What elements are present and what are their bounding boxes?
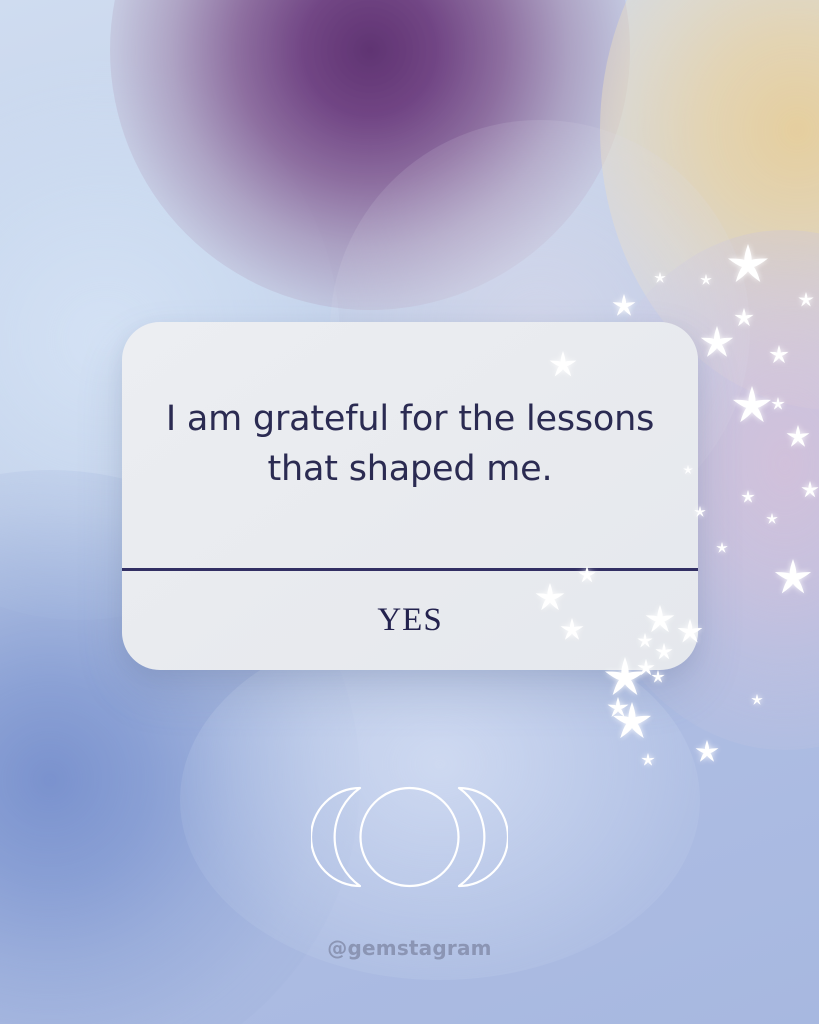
answer-area: YES [122,571,698,670]
purple-blob [110,0,630,310]
sparkle-star-icon [766,513,778,525]
affirmation-card: I am grateful for the lessons that shape… [122,322,698,670]
sparkle-star-icon [700,274,712,286]
sparkle-star-icon [798,292,814,308]
sparkle-star-icon [700,326,734,360]
answer-label: YES [377,602,442,639]
sparkle-star-icon [727,244,769,286]
affirmation-text: I am grateful for the lessons that shape… [166,395,654,494]
quote-area: I am grateful for the lessons that shape… [122,322,698,568]
sparkle-star-icon [732,386,772,426]
sparkle-star-icon [651,670,665,684]
sparkle-star-icon [695,740,719,764]
sparkle-star-icon [641,753,655,767]
social-post-canvas: I am grateful for the lessons that shape… [0,0,819,1024]
sparkle-star-icon [769,345,789,365]
sparkle-star-icon [774,559,812,597]
sparkle-star-icon [786,425,810,449]
triple-moon-icon [311,778,508,896]
sparkle-star-icon [734,308,754,328]
sparkle-star-icon [612,294,636,318]
sparkle-star-icon [716,542,728,554]
account-handle: @gemstagram [0,936,819,960]
sparkle-star-icon [607,697,629,719]
sparkle-star-icon [654,272,666,284]
sparkle-star-icon [751,694,763,706]
affirmation-card-inner: I am grateful for the lessons that shape… [122,322,698,670]
sparkle-star-icon [612,702,652,742]
sparkle-star-icon [801,481,819,499]
affirmation-line-2: that shaped me. [268,449,553,489]
sparkle-star-icon [771,397,785,411]
affirmation-line-1: I am grateful for the lessons [166,399,654,439]
sparkle-star-icon [741,490,755,504]
